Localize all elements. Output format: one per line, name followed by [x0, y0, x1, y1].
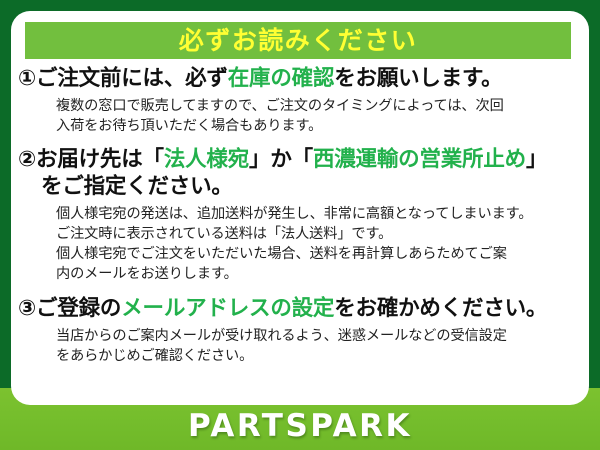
item-1-headline: ①ご注文前には、必ず在庫の確認をお願いします。	[18, 65, 581, 93]
item-3-headline-part-1: ご登録の	[36, 296, 121, 321]
item-3-body-line-2: をあらかじめご確認ください。	[18, 346, 581, 366]
item-2-headline-part-3: 」か「	[249, 147, 313, 172]
notice-item-3: ③ご登録のメールアドレスの設定をお確かめください。 当店からのご案内メールが受け…	[11, 295, 589, 366]
item-2-body-line-2: ご注文時に表示されている送料は「法人送料」です。	[18, 224, 581, 244]
item-1-headline-highlight: 在庫の確認	[228, 66, 335, 91]
item-3-headline-highlight: メールアドレスの設定	[121, 296, 334, 321]
item-2-body-line-3: 個人様宅宛でご注文をいただいた場合、送料を再計算しあらためてご案	[18, 244, 581, 264]
brand-wordmark: PARTSPARK	[188, 411, 412, 442]
notice-item-1: ①ご注文前には、必ず在庫の確認をお願いします。 複数の窓口で販売してますので、ご…	[11, 65, 589, 136]
item-1-marker: ①	[18, 66, 36, 91]
brand-footer: PARTSPARK	[0, 403, 600, 450]
notice-panel: 必ずお読みください ①ご注文前には、必ず在庫の確認をお願いします。 複数の窓口で…	[11, 11, 589, 405]
item-2-headline: ②お届け先は「法人様宛」か「西濃運輸の営業所止め」	[18, 146, 581, 174]
item-2-headline-highlight-2: 西濃運輸の営業所止め	[313, 147, 526, 172]
item-1-body-line-1: 複数の窓口で販売してますので、ご注文のタイミングによっては、次回	[18, 96, 581, 116]
title-banner: 必ずお読みください	[25, 22, 571, 59]
item-2-marker: ②	[18, 147, 36, 172]
notice-item-2: ②お届け先は「法人様宛」か「西濃運輸の営業所止め」 をご指定ください。 個人様宅…	[11, 146, 589, 285]
item-2-headline-line-2: をご指定ください。	[18, 173, 581, 201]
item-1-body-line-2: 入荷をお待ち頂いただく場合もあります。	[18, 116, 581, 136]
item-3-headline: ③ご登録のメールアドレスの設定をお確かめください。	[18, 295, 581, 323]
item-3-headline-part-3: をお確かめください。	[334, 296, 547, 321]
item-2-headline-part-5: 」	[526, 147, 547, 172]
notice-items-list: ①ご注文前には、必ず在庫の確認をお願いします。 複数の窓口で販売してますので、ご…	[11, 65, 589, 366]
notice-card: 必ずお読みください ①ご注文前には、必ず在庫の確認をお願いします。 複数の窓口で…	[0, 0, 600, 450]
item-3-marker: ③	[18, 296, 36, 321]
item-3-body-line-1: 当店からのご案内メールが受け取れるよう、迷惑メールなどの受信設定	[18, 326, 581, 346]
item-1-headline-part-3: をお願いします。	[334, 66, 502, 91]
item-2-body-line-4: 内のメールをお送りします。	[18, 264, 581, 284]
item-2-headline-part-1: お届け先は「	[36, 147, 164, 172]
item-1-headline-part-1: ご注文前には、必ず	[36, 66, 228, 91]
item-2-body-line-1: 個人様宅宛の発送は、追加送料が発生し、非常に高額となってしまいます。	[18, 204, 581, 224]
item-2-headline-highlight-1: 法人様宛	[164, 147, 249, 172]
page-title: 必ずお読みください	[179, 28, 418, 53]
